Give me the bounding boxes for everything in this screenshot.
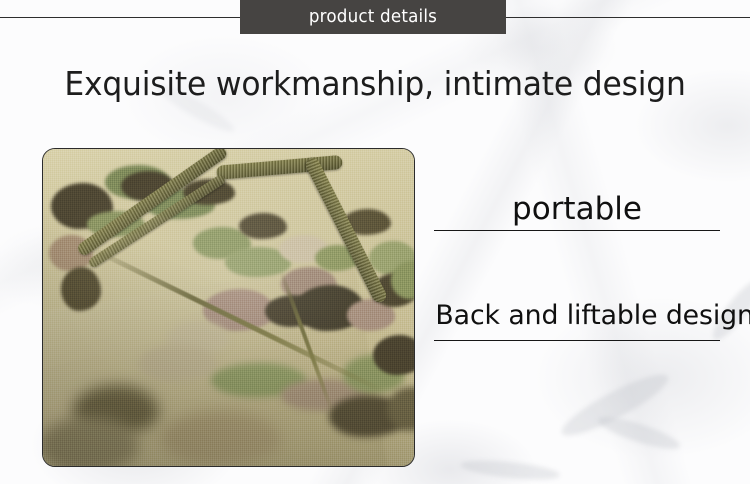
product-details-banner: product details Exquisite workmanship, i… — [0, 0, 750, 484]
feature-back-liftable-rule — [434, 340, 720, 341]
feature-portable-rule — [434, 230, 720, 231]
product-photo-canvas — [43, 149, 414, 466]
feature-back-liftable-label: Back and liftable design — [435, 297, 718, 335]
feature-portable-label: portable — [434, 190, 720, 228]
feature-portable: portable — [434, 190, 720, 231]
feature-back-liftable: Back and liftable design — [434, 297, 720, 341]
product-photo — [42, 148, 415, 467]
header-badge: product details — [240, 0, 506, 34]
header-badge-label: product details — [309, 8, 437, 26]
page-title: Exquisite workmanship, intimate design — [19, 64, 732, 104]
background-vein-4 — [459, 457, 560, 483]
background-vein-2 — [595, 411, 682, 455]
